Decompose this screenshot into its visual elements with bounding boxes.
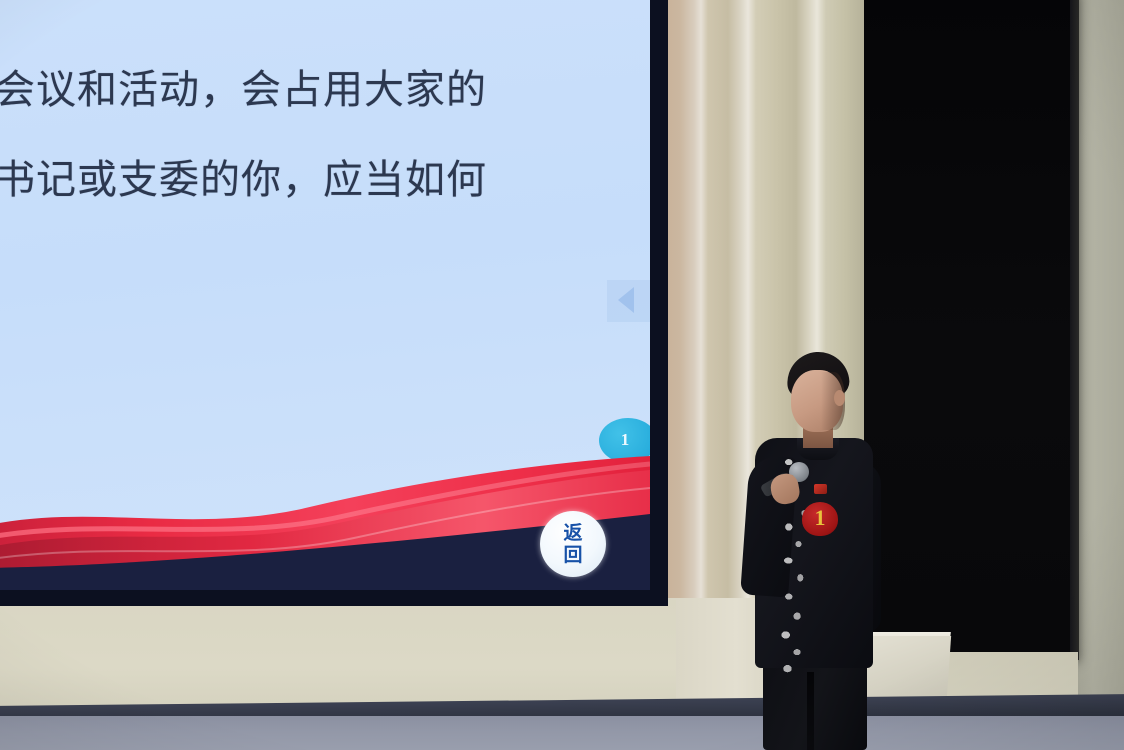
contestant-number-badge: 1 <box>802 502 838 536</box>
dark-wall-panel-edge <box>1070 0 1079 660</box>
return-button-char-bottom: 回 <box>563 546 582 565</box>
screenshot-stage: 开会议和活动，会占用大家的 部书记或支委的你，应当如何 1 <box>0 0 1124 750</box>
previous-slide-arrow-icon[interactable] <box>618 287 634 313</box>
party-emblem-pin <box>814 484 827 494</box>
presenter-leg-gap <box>807 672 814 750</box>
presentation-slide[interactable]: 开会议和活动，会占用大家的 部书记或支委的你，应当如何 1 <box>0 0 650 590</box>
presenter-ear <box>834 390 845 406</box>
projection-screen-bezel: 开会议和活动，会占用大家的 部书记或支委的你，应当如何 1 <box>0 0 668 606</box>
floor <box>0 716 1124 750</box>
slide-text-line-2: 部书记或支委的你，应当如何 <box>0 160 554 200</box>
return-circle-button[interactable]: 返 回 <box>540 511 606 577</box>
dark-wall-panel <box>862 0 1077 660</box>
right-wall-strip <box>1072 0 1124 722</box>
presenter: 1 <box>735 352 885 750</box>
return-button-char-top: 返 <box>563 524 582 543</box>
slide-text-line-1: 开会议和活动，会占用大家的 <box>0 70 554 110</box>
contestant-number-label: 1 <box>815 505 826 531</box>
